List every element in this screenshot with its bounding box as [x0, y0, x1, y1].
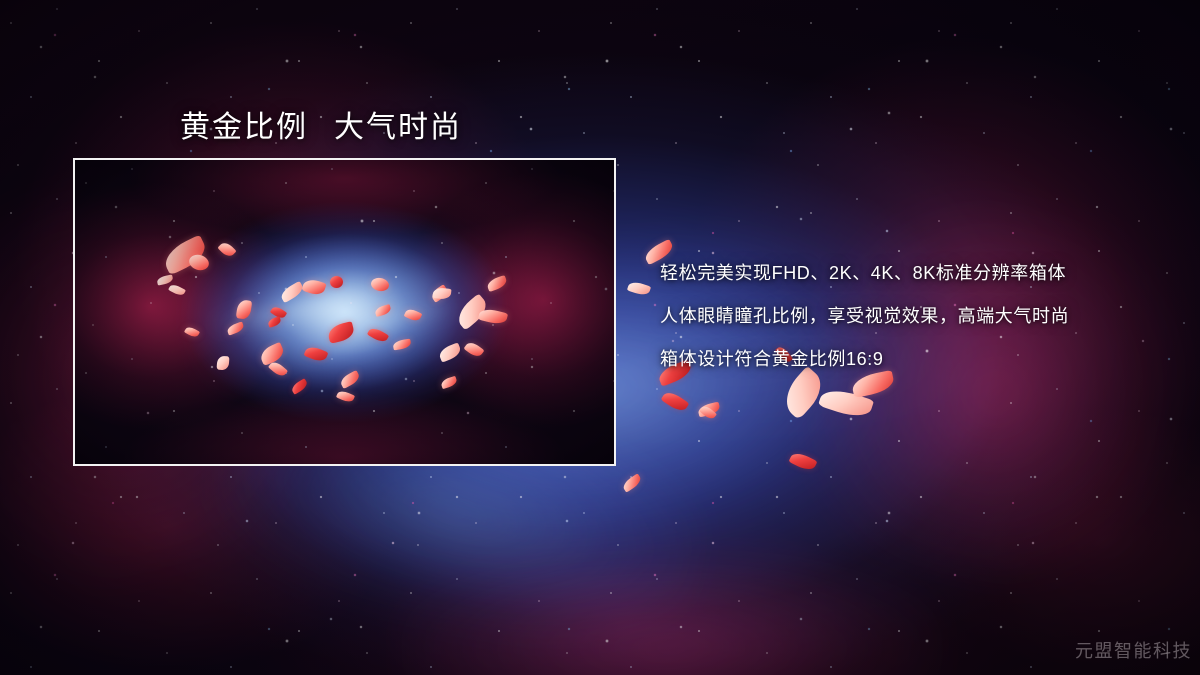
image-frame[interactable] — [73, 158, 616, 466]
framed-image — [75, 160, 614, 464]
page-title: 黄金比例大气时尚 — [180, 102, 462, 146]
watermark: 元盟智能科技 — [1075, 637, 1192, 663]
body-line-2: 人体眼睛瞳孔比例，享受视觉效果，高端大气时尚 — [660, 295, 1180, 338]
body-line-3: 箱体设计符合黄金比例16:9 — [660, 338, 1180, 381]
body-line-1: 轻松完美实现FHD、2K、4K、8K标准分辨率箱体 — [660, 252, 1180, 295]
headline-part-one: 黄金比例 — [180, 111, 308, 144]
picture-vignette — [75, 160, 614, 464]
slide-canvas: 黄金比例大气时尚 轻松完美实现FHD、2K、4K、8K标准分辨率箱体 人体眼睛瞳… — [0, 0, 1200, 675]
body-copy: 轻松完美实现FHD、2K、4K、8K标准分辨率箱体 人体眼睛瞳孔比例，享受视觉效… — [660, 252, 1180, 381]
headline-part-two: 大气时尚 — [334, 111, 462, 144]
